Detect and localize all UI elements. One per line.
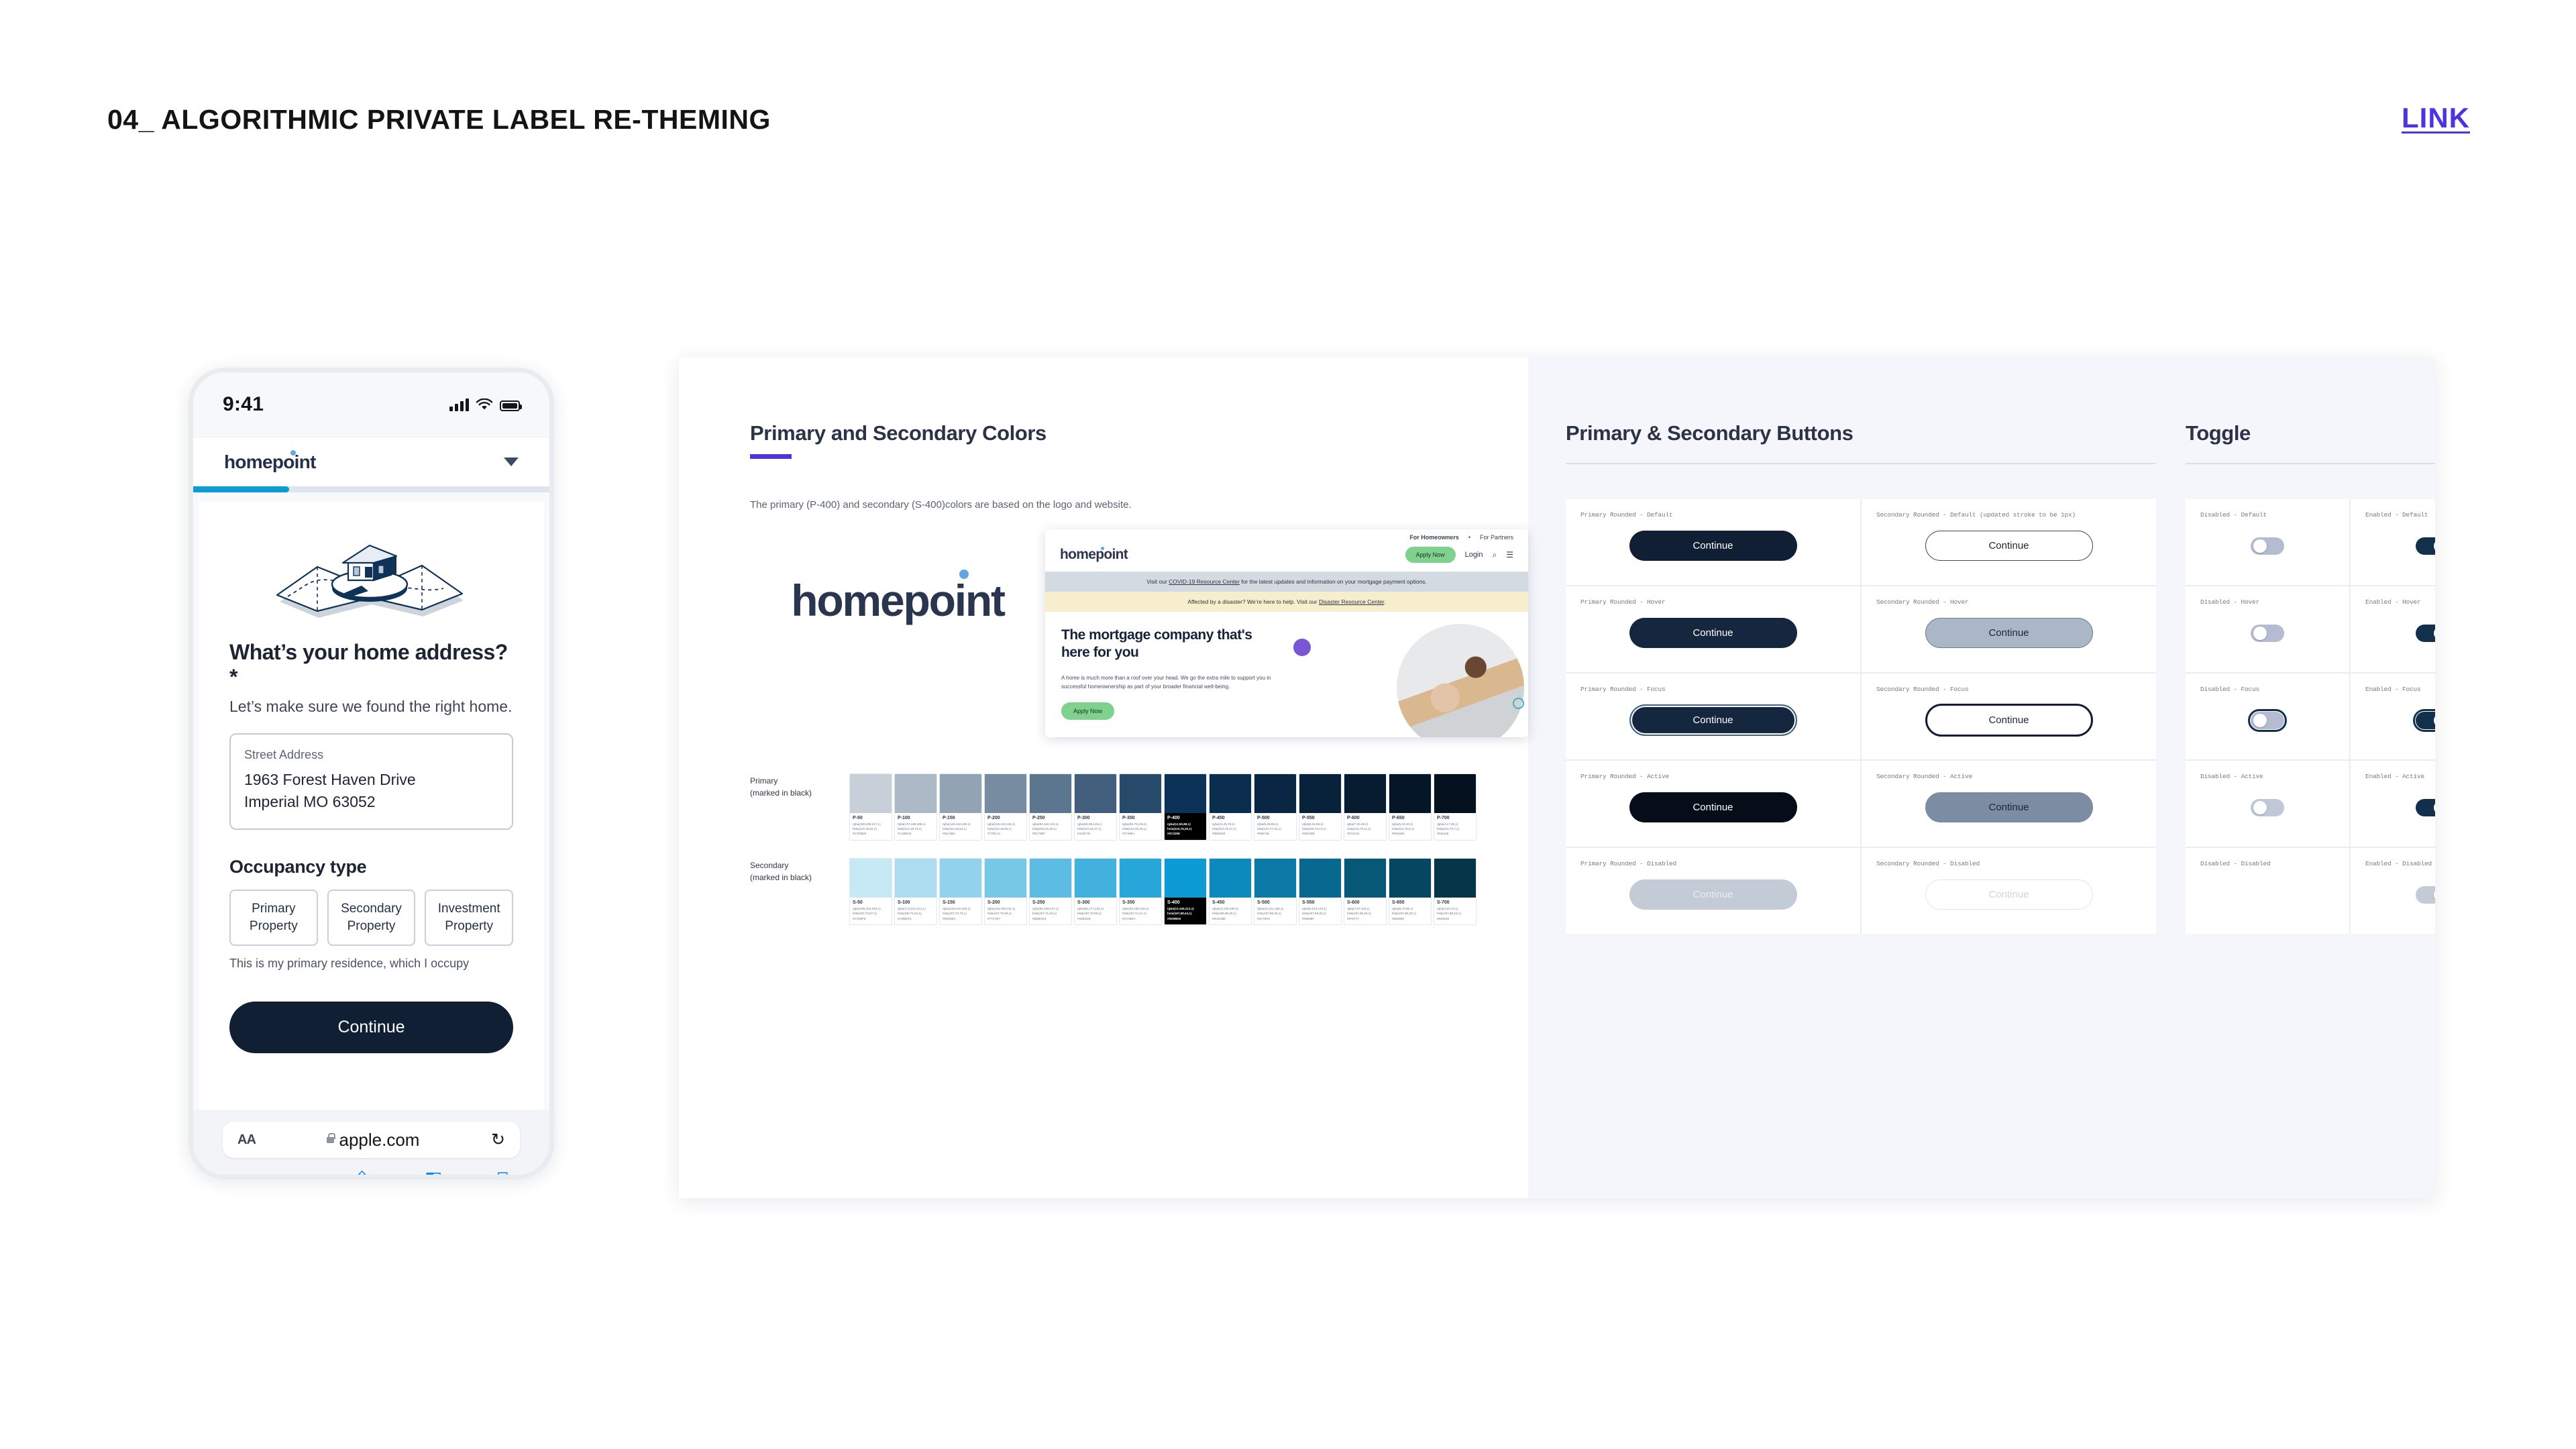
button-state-label: Secondary Rounded - Default (updated str… [1876,511,2141,519]
form-card: What’s your home address?* Let’s make su… [199,502,544,1110]
swatch-values: rgba(5,22,40,1)hsla(211,78,9,1)#051628 [1392,822,1428,837]
color-swatch: S-300rgba(66,177,222,1)hsla(197,70,56,1)… [1074,858,1117,925]
button-state-cell: Primary Rounded - DefaultContinue [1566,499,1860,585]
swatch-values: rgba(146,163,180,1)hsla(210,18,64,1)#92A… [943,822,979,837]
teal-ring-decor [1513,698,1524,709]
color-swatch: P-350rgba(39,73,106,1)hsla(210,46,28,1)#… [1119,773,1162,841]
homepoint-logo-large: homepoint [750,529,1045,626]
button-state-cell: Secondary Rounded - HoverContinue [1862,586,2156,672]
covid-resource-link[interactable]: COVID-19 Resource Center [1169,578,1240,585]
button-state-cell: Primary Rounded - DisabledContinue [1566,848,1860,934]
swatch-values: rgba(7,28,49,1)hsla(210,75,11,1)#071C31 [1347,822,1383,837]
button-state-label: Primary Rounded - Disabled [1580,860,1845,867]
swatch-chip [1299,859,1341,898]
swatch-name: S-200 [987,900,1024,905]
reload-icon[interactable]: ↻ [491,1130,505,1150]
homepoint-logo-text: homepoint [224,451,316,472]
disaster-banner: Affected by a disaster? We’re here to he… [1045,592,1528,612]
colors-note: The primary (P-400) and secondary (S-400… [750,499,1528,511]
swatch-values: rgba(119,199,231,1)hsla(197,70,69,1)#77C… [987,906,1024,921]
covid-banner-pre: Visit our [1146,578,1169,585]
swatch-name: P-500 [1257,816,1293,820]
homepoint-logo-large-text: homepoint [791,576,1004,625]
toggle-switch[interactable] [2416,537,2435,555]
cellular-signal-icon [449,398,469,411]
swatch-values: rgba(65,95,125,1)hsla(210,32,37,1)#415F7… [1077,822,1114,837]
swatch-meta: S-50rgba(199,232,245,1)hsla(197,70,87,1)… [850,898,892,924]
primary-row-label-line2: (marked in black) [750,787,849,799]
button-state-label: Primary Rounded - Focus [1580,686,1845,693]
hamburger-menu-icon[interactable]: ☰ [1506,550,1513,559]
colors-panel: Primary and Secondary Colors The primary… [679,358,1528,1198]
swatch-values: rgba(173,221,241,1)hsla(199,71,81,1)#ADD… [898,906,934,921]
swatch-name: S-100 [898,900,934,905]
occupancy-note: This is my primary residence, which I oc… [229,957,513,971]
text-size-icon[interactable]: AA [237,1132,256,1148]
safari-toolbar: AA apple.com ↻ ‹ › ⇧ ◧ ⧉ [193,1110,549,1179]
wifi-icon [476,398,493,411]
swatch-meta: S-450rgba(12,138,190,1)hsla(196,88,40,1)… [1210,898,1251,924]
swatch-values: rgba(6,70,96,1)hsla(197,88,20,1)#064660 [1392,906,1428,921]
battery-icon [500,400,520,411]
occupancy-options: Primary Property Secondary Property Inve… [229,890,513,945]
toggle-state-label: Disabled - Active [2200,773,2334,780]
toggle-state-cell: Enabled - Default [2351,499,2435,585]
swatch-chip [1165,859,1206,898]
swatch-values: rgba(8,34,59,1)hsla(209,76,13,1)#08223B [1302,822,1338,837]
form-subtitle: Let’s make sure we found the right home. [229,698,513,716]
swatch-chip [1254,859,1296,898]
color-swatch: S-700rgba(4,53,72,1)hsla(197,89,15,1)#04… [1434,858,1477,925]
swatch-meta: P-150rgba(146,163,180,1)hsla(210,18,64,1… [940,813,981,840]
swatch-meta: S-400rgba(13,155,213,1)hsla(197,88,44,1)… [1165,898,1206,924]
street-address-field[interactable]: Street Address 1963 Forest Haven Drive I… [229,733,513,830]
heading-accent [750,454,792,459]
button-state-label: Secondary Rounded - Focus [1876,686,2141,693]
swatch-values: rgba(199,208,217,1)hsla(210,19,82,1)#C7D… [853,822,889,837]
swatch-chip [1075,774,1116,813]
swatch-name: P-550 [1302,816,1338,820]
progress-bar-fill [193,486,289,492]
button-preview: Continue [1580,693,1845,747]
swatch-chip [1344,859,1386,898]
status-indicators [449,398,520,411]
swatch-name: S-400 [1167,900,1203,905]
swatch-chip [1120,774,1161,813]
occupancy-title: Occupancy type [229,857,513,877]
button-state-label: Primary Rounded - Hover [1580,598,1845,606]
status-time: 9:41 [223,393,264,416]
color-swatch: S-400rgba(13,155,213,1)hsla(197,88,44,1)… [1164,858,1207,925]
progress-bar-track [193,486,549,492]
swatch-values: rgba(119,140,161,1)hsla(210,18,55,1)#778… [987,822,1024,837]
swatch-name: P-250 [1032,816,1069,820]
primary-swatch-list: P-50rgba(199,208,217,1)hsla(210,19,82,1)… [849,773,1477,841]
website-nav-actions: Apply Now Login ⌕ ☰ [1405,547,1513,563]
secondary-row-label: Secondary (marked in black) [750,858,849,883]
toggle-preview [2200,519,2334,573]
swatch-meta: P-700rgba(4,17,30,1)hsla(210,76,7,1)#041… [1434,813,1476,840]
disaster-banner-post: . [1384,598,1385,605]
occupancy-option-secondary[interactable]: Secondary Property [327,890,416,945]
form-question: What’s your home address?* [229,640,513,690]
swatch-chip [1389,859,1431,898]
swatch-values: rgba(172,185,198,1)hsla(210,19,73,1)#ACB… [898,822,934,837]
color-swatch: P-700rgba(4,17,30,1)hsla(210,76,7,1)#041… [1434,773,1477,841]
nav-separator: • [1468,534,1470,541]
search-icon[interactable]: ⌕ [1493,550,1497,560]
swatch-name: P-50 [853,816,889,820]
purple-dot-decor [1293,639,1311,656]
color-swatch: S-450rgba(12,138,190,1)hsla(196,88,40,1)… [1209,858,1252,925]
covid-banner: Visit our COVID-19 Resource Center for t… [1045,572,1528,592]
swatch-values: rgba(146,210,236,1)hsla(197,70,75,1)#92D… [943,906,979,921]
swatch-meta: P-100rgba(172,185,198,1)hsla(210,19,73,1… [895,813,936,840]
continue-button-sample[interactable]: Continue [1925,704,2093,737]
swatch-meta: S-100rgba(173,221,241,1)hsla(199,71,81,1… [895,898,936,924]
nav-for-homeowners[interactable]: For Homeowners [1409,534,1459,541]
website-logo: homepoint [1060,547,1128,563]
button-state-cell: Secondary Rounded - FocusContinue [1862,674,2156,759]
swatch-values: rgba(10,121,166,1)hsla(197,88,35,1)#0A79… [1257,906,1293,921]
website-utility-nav: For Homeowners • For Partners [1045,529,1528,543]
hero-copy: The mortgage company that's here for you… [1061,627,1283,720]
swatch-values: rgba(93,188,227,1)hsla(197,71,63,1)#5DBC… [1032,906,1069,921]
swatch-name: S-450 [1212,900,1248,905]
swatch-chip [940,859,981,898]
toggle-heading: Toggle [2186,421,2435,445]
button-state-cell: Primary Rounded - FocusContinue [1566,674,1860,759]
link-button[interactable]: LINK [2402,102,2470,134]
toggle-state-label: Disabled - Hover [2200,598,2334,606]
back-icon[interactable]: ‹ [232,1168,238,1180]
disaster-banner-pre: Affected by a disaster? We’re here to he… [1187,598,1319,605]
button-state-label: Secondary Rounded - Hover [1876,598,2141,606]
website-apply-now-button[interactable]: Apply Now [1405,547,1456,563]
occupancy-option-primary[interactable]: Primary Property [229,890,318,945]
swatch-chip [1075,859,1116,898]
color-swatch: P-250rgba(92,118,143,1)hsla(209,22,46,1)… [1029,773,1072,841]
url-bar[interactable]: AA apple.com ↻ [223,1122,520,1158]
forward-icon[interactable]: › [293,1168,299,1180]
phone-brand-bar: homepoint [193,437,549,486]
swatch-name: S-250 [1032,900,1069,905]
continue-button-sample[interactable]: Continue [1925,618,2093,648]
continue-button-sample[interactable]: Continue [1925,879,2093,910]
share-icon[interactable]: ⇧ [354,1167,370,1179]
continue-button[interactable]: Continue [229,1002,513,1053]
phone-notch [314,372,429,396]
button-state-cell: Primary Rounded - HoverContinue [1566,586,1860,672]
swatch-chip [850,774,892,813]
color-swatch: S-200rgba(119,199,231,1)hsla(197,70,69,1… [984,858,1027,925]
toggle-preview [2365,867,2435,922]
swatch-meta: P-300rgba(65,95,125,1)hsla(210,32,37,1)#… [1075,813,1116,840]
color-swatch: S-100rgba(173,221,241,1)hsla(199,71,81,1… [894,858,937,925]
swatch-values: rgba(12,138,190,1)hsla(196,88,40,1)#0C8A… [1212,906,1248,921]
url-text: apple.com [339,1130,419,1150]
button-state-cell: Secondary Rounded - Default (updated str… [1862,499,2156,585]
swatch-values: rgba(92,118,143,1)hsla(209,22,46,1)#5C76… [1032,822,1069,837]
hero-photo-circle [1397,624,1524,737]
button-preview: Continue [1876,780,2141,835]
toggle-state-cell: Disabled - Focus [2186,674,2349,759]
toggle-state-label: Enabled - Default [2365,511,2435,519]
button-preview: Continue [1580,606,1845,660]
swatch-name: S-550 [1302,900,1338,905]
swatch-chip [1389,774,1431,813]
website-login-link[interactable]: Login [1465,551,1483,559]
swatch-name: S-150 [943,900,979,905]
toggle-state-cell: Disabled - Default [2186,499,2349,585]
toggle-preview [2365,606,2435,660]
toggle-state-cell: Disabled - Hover [2186,586,2349,672]
swatch-chip [850,859,892,898]
swatch-meta: S-250rgba(93,188,227,1)hsla(197,71,63,1)… [1030,898,1071,924]
button-state-label: Primary Rounded - Default [1580,511,1845,519]
toggle-switch[interactable] [2416,886,2435,904]
swatch-chip [1344,774,1386,813]
button-states-grid: Primary Rounded - DefaultContinueSeconda… [1566,499,2156,934]
swatch-chip [1030,774,1071,813]
color-swatch: P-50rgba(199,208,217,1)hsla(210,19,82,1)… [849,773,892,841]
button-state-label: Secondary Rounded - Active [1876,773,2141,780]
logo-dot-icon [290,450,296,455]
address-line-2: Imperial MO 63052 [244,791,498,813]
primary-row-label-line1: Primary [750,775,849,787]
toggle-states-grid: Disabled - DefaultEnabled - DefaultDisab… [2186,499,2435,934]
button-state-label: Secondary Rounded - Disabled [1876,860,2141,867]
address-line-1: 1963 Forest Haven Drive [244,769,498,791]
toggle-switch[interactable] [2416,712,2435,729]
covid-banner-post: for the latest updates and information o… [1240,578,1427,585]
swatch-chip [1210,859,1251,898]
secondary-row-label-line2: (marked in black) [750,871,849,883]
secondary-row-label-line1: Secondary [750,859,849,871]
buttons-column: Primary & Secondary Buttons Primary Roun… [1566,421,2156,1198]
toggle-preview [2200,606,2334,660]
toggle-switch[interactable] [2416,799,2435,816]
swatch-chip [895,774,936,813]
secondary-swatch-row: Secondary (marked in black) S-50rgba(199… [750,858,1528,925]
bookmarks-icon[interactable]: ◧ [425,1167,442,1179]
button-preview: Continue [1876,519,2141,573]
hero-heading: The mortgage company that's here for you [1061,627,1283,662]
button-state-cell: Secondary Rounded - DisabledContinue [1862,848,2156,934]
swatch-meta: P-550rgba(8,34,59,1)hsla(209,76,13,1)#08… [1299,813,1341,840]
toggle-column: Toggle Disabled - DefaultEnabled - Defau… [2186,421,2435,1198]
toggle-state-cell: Disabled - Disabled [2186,848,2349,934]
swatch-values: rgba(7,87,119,1)hsla(197,89,25,1)#075777 [1347,906,1383,921]
swatch-meta: S-650rgba(6,70,96,1)hsla(197,88,20,1)#06… [1389,898,1431,924]
continue-button-sample[interactable]: Continue [1925,792,2093,822]
swatch-chip [940,774,981,813]
swatch-name: P-400 [1167,816,1203,820]
toggle-preview [2200,780,2334,835]
button-preview: Continue [1580,519,1845,573]
swatch-chip [1165,774,1206,813]
color-swatch: P-400rgba(12,50,88,1)hsla(210,76,20,1)#0… [1164,773,1207,841]
swatch-name: P-200 [987,816,1024,820]
swatch-name: P-450 [1212,816,1248,820]
color-swatch: S-500rgba(10,121,166,1)hsla(197,88,35,1)… [1254,858,1297,925]
swatch-meta: P-600rgba(7,28,49,1)hsla(210,75,11,1)#07… [1344,813,1386,840]
toggle-state-label: Disabled - Disabled [2200,860,2334,867]
street-address-label: Street Address [244,748,498,762]
hero-apply-now-button[interactable]: Apply Now [1061,702,1114,720]
swatch-meta: P-450rgba(11,45,78,1)hsla(210,75,17,1)#0… [1210,813,1251,840]
swatch-meta: P-200rgba(119,140,161,1)hsla(210,18,55,1… [985,813,1026,840]
lock-icon [327,1137,334,1143]
swatch-meta: P-50rgba(199,208,217,1)hsla(210,19,82,1)… [850,813,892,840]
swatch-chip [1210,774,1251,813]
toggle-heading-rule [2186,463,2435,464]
swatch-name: S-300 [1077,900,1114,905]
swatch-meta: S-300rgba(66,177,222,1)hsla(197,70,56,1)… [1075,898,1116,924]
swatch-chip [895,859,936,898]
swatch-name: P-300 [1077,816,1114,820]
swatch-meta: P-400rgba(12,50,88,1)hsla(210,76,20,1)#0… [1165,813,1206,840]
color-swatch: P-200rgba(119,140,161,1)hsla(210,18,55,1… [984,773,1027,841]
website-main-nav: homepoint Apply Now Login ⌕ ☰ [1045,543,1528,572]
toggle-switch[interactable] [2416,625,2435,642]
occupancy-option-investment[interactable]: Investment Property [425,890,513,945]
swatch-meta: S-150rgba(146,210,236,1)hsla(197,70,75,1… [940,898,981,924]
hero-body: A home is much more than a roof over you… [1061,674,1283,692]
toggle-state-label: Disabled - Default [2200,511,2334,519]
color-swatch: S-550rgba(9,104,143,1)hsla(197,88,30,1)#… [1299,858,1342,925]
swatch-meta: S-350rgba(39,166,218,1)hsla(197,71,51,1)… [1120,898,1161,924]
swatch-name: S-500 [1257,900,1293,905]
homepoint-logo-phone: homepoint [224,451,316,473]
color-swatch: P-500rgba(9,39,69,1)hsla(210,77,15,1)#09… [1254,773,1297,841]
swatch-chip [1254,774,1296,813]
toggle-state-cell: Enabled - Focus [2351,674,2435,759]
color-swatch: P-650rgba(5,22,40,1)hsla(211,78,9,1)#051… [1389,773,1432,841]
color-swatch: S-50rgba(199,232,245,1)hsla(197,70,87,1)… [849,858,892,925]
swatch-chip [985,774,1026,813]
swatch-meta: P-500rgba(9,39,69,1)hsla(210,77,15,1)#09… [1254,813,1296,840]
button-state-label: Primary Rounded - Active [1580,773,1845,780]
nav-for-partners[interactable]: For Partners [1480,534,1513,541]
toggle-switch[interactable] [2251,712,2284,729]
toggle-state-cell: Disabled - Active [2186,761,2349,847]
color-swatch: S-650rgba(6,70,96,1)hsla(197,88,20,1)#06… [1389,858,1432,925]
swatch-name: S-700 [1437,900,1473,905]
swatch-values: rgba(9,104,143,1)hsla(197,88,30,1)#09688… [1302,906,1338,921]
phone-mockup: 9:41 homepoint [189,368,554,1179]
swatch-name: S-350 [1122,900,1159,905]
website-logo-text: homepoint [1060,547,1128,562]
continue-button-sample[interactable]: Continue [1629,704,1797,736]
swatch-block: Primary (marked in black) P-50rgba(199,2… [750,773,1528,926]
swatch-chip [1030,859,1071,898]
buttons-heading: Primary & Secondary Buttons [1566,421,2156,445]
url-text-wrap: apple.com [256,1130,491,1150]
swatch-name: S-650 [1392,900,1428,905]
chevron-down-icon[interactable] [504,458,519,466]
color-swatch: S-350rgba(39,166,218,1)hsla(197,71,51,1)… [1119,858,1162,925]
primary-swatch-row: Primary (marked in black) P-50rgba(199,2… [750,773,1528,841]
swatch-values: rgba(11,45,78,1)hsla(210,75,17,1)#0B2D4E [1212,822,1248,837]
swatch-chip [1434,774,1476,813]
button-preview: Continue [1876,867,2141,922]
tabs-icon[interactable]: ⧉ [497,1167,511,1179]
toggle-state-cell: Enabled - Disabled [2351,848,2435,934]
swatch-values: rgba(4,53,72,1)hsla(197,89,15,1)#043548 [1437,906,1473,921]
design-system-board: Primary and Secondary Colors The primary… [679,358,2435,1198]
swatch-name: S-50 [853,900,889,905]
swatch-meta: P-650rgba(5,22,40,1)hsla(211,78,9,1)#051… [1389,813,1431,840]
disaster-resource-link[interactable]: Disaster Resource Center [1319,598,1384,605]
website-logo-dot-icon [1101,547,1104,550]
toggle-preview [2200,867,2334,922]
color-swatch: P-150rgba(146,163,180,1)hsla(210,18,64,1… [939,773,982,841]
swatch-name: P-350 [1122,816,1159,820]
safari-nav-bar: ‹ › ⇧ ◧ ⧉ [223,1158,520,1179]
toggle-preview [2365,519,2435,573]
button-state-cell: Secondary Rounded - ActiveContinue [1862,761,2156,847]
toggle-switch[interactable] [2251,537,2284,555]
swatch-name: P-600 [1347,816,1383,820]
continue-button-sample[interactable]: Continue [1629,618,1797,648]
continue-button-sample[interactable]: Continue [1629,792,1797,822]
swatch-name: P-650 [1392,816,1428,820]
toggle-preview [2200,693,2334,747]
swatch-values: rgba(199,232,245,1)hsla(197,70,87,1)#C7E… [853,906,889,921]
swatch-meta: S-500rgba(10,121,166,1)hsla(197,88,35,1)… [1254,898,1296,924]
toggle-state-label: Enabled - Disabled [2365,860,2435,867]
color-swatch: P-550rgba(8,34,59,1)hsla(209,76,13,1)#08… [1299,773,1342,841]
swatch-meta: S-200rgba(119,199,231,1)hsla(197,70,69,1… [985,898,1026,924]
toggle-switch[interactable] [2251,799,2284,816]
swatch-values: rgba(66,177,222,1)hsla(197,70,56,1)#42B1… [1077,906,1114,921]
button-preview: Continue [1876,693,2141,747]
primary-row-label: Primary (marked in black) [750,773,849,799]
website-hero: The mortgage company that's here for you… [1045,612,1528,737]
color-swatch: P-100rgba(172,185,198,1)hsla(210,19,73,1… [894,773,937,841]
swatch-name: P-700 [1437,816,1473,820]
continue-button-sample[interactable]: Continue [1925,531,2093,561]
swatch-meta: P-250rgba(92,118,143,1)hsla(209,22,46,1)… [1030,813,1071,840]
swatch-values: rgba(4,17,30,1)hsla(210,76,7,1)#04111E [1437,822,1473,837]
swatch-meta: P-350rgba(39,73,106,1)hsla(210,46,28,1)#… [1120,813,1161,840]
button-state-cell: Primary Rounded - ActiveContinue [1566,761,1860,847]
continue-button-sample[interactable]: Continue [1629,879,1797,910]
phone-status-bar: 9:41 [193,372,549,437]
toggle-state-label: Enabled - Focus [2365,686,2435,693]
logo-dot-icon-large [959,570,969,579]
toggle-state-label: Disabled - Focus [2200,686,2334,693]
toggle-preview [2365,780,2435,835]
swatch-chip [985,859,1026,898]
button-preview: Continue [1580,780,1845,835]
color-swatch: S-150rgba(146,210,236,1)hsla(197,70,75,1… [939,858,982,925]
toggle-state-label: Enabled - Active [2365,773,2435,780]
toggle-switch[interactable] [2251,625,2284,642]
swatch-name: P-150 [943,816,979,820]
toggle-state-cell: Enabled - Active [2351,761,2435,847]
toggle-state-cell: Enabled - Hover [2351,586,2435,672]
toggle-preview [2365,693,2435,747]
house-on-map-illustration [229,515,513,629]
swatch-values: rgba(39,73,106,1)hsla(210,46,28,1)#27496… [1122,822,1159,837]
continue-button-sample[interactable]: Continue [1629,531,1797,561]
swatch-name: P-100 [898,816,934,820]
components-panel: Primary & Secondary Buttons Primary Roun… [1528,358,2435,1198]
swatch-values: rgba(9,39,69,1)hsla(210,77,15,1)#092745 [1257,822,1293,837]
swatch-meta: S-550rgba(9,104,143,1)hsla(197,88,30,1)#… [1299,898,1341,924]
